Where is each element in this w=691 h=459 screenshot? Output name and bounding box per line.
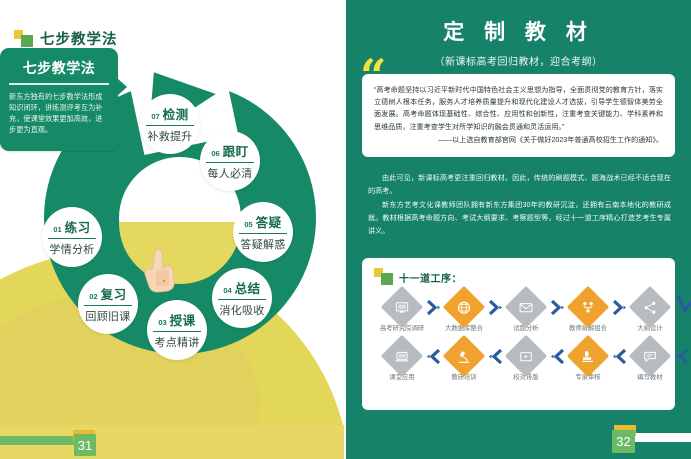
right-page: 定 制 教 材 （新课标高考回归教材，迎合考纲） “ “高考命题坚持以习近平新时… (346, 0, 691, 459)
chevron-right-icon (488, 292, 502, 315)
process-step-8[interactable]: 专家审核 (564, 341, 612, 382)
chevron-left-icon (674, 341, 688, 364)
laptop-icon (381, 335, 423, 377)
card-title: 七步教学法 (9, 58, 109, 78)
chevron-right-icon (426, 292, 440, 315)
two-squares-icon (14, 30, 34, 48)
step-02-number: 02 (89, 292, 97, 301)
card-description: 新东方独有的七步教学法形成知识闭环，讲练测评考互为补充，使课堂效果更加高效，进步… (9, 91, 109, 136)
share-nodes-icon (629, 286, 671, 328)
stamp-icon (567, 335, 609, 377)
process-card-header: 十一道工序： (374, 268, 667, 286)
step-06-number: 06 (211, 149, 219, 158)
two-squares-icon (374, 268, 394, 286)
step-06-sub: 每人必清 (207, 165, 252, 181)
play-box-icon (505, 335, 547, 377)
monitor-icon (381, 286, 423, 328)
chevron-right-icon (550, 292, 564, 315)
left-page-number-group: 31 (0, 430, 140, 452)
card-divider (9, 83, 109, 85)
microscope-icon (443, 335, 485, 377)
people-network-icon (567, 286, 609, 328)
step-node-02[interactable]: 02 复习 回顾旧课 (78, 274, 138, 334)
step-01-number: 01 (53, 225, 61, 234)
body-paragraph-1: 由此可见，新课标高考更注重回归教材。因此，传统的刷题模式、题海战术已经不适合现在… (368, 172, 671, 197)
step-06-keyword: 跟盯 (223, 141, 249, 160)
process-step-7[interactable]: 编写教材 (626, 341, 674, 382)
process-step-10[interactable]: 教研培训 (440, 341, 488, 382)
seven-step-summary-card: 七步教学法 新东方独有的七步教学法形成知识闭环，讲练测评考互为补充，使课堂效果更… (0, 48, 118, 151)
step-03-sub: 考点精讲 (154, 334, 199, 350)
speech-bubble-icon (629, 335, 671, 377)
chevron-left-icon (612, 341, 626, 364)
step-01-sub: 学情分析 (49, 241, 94, 257)
card-pointer-tail (117, 78, 127, 96)
chevron-left-icon (488, 341, 502, 364)
step-02-keyword: 复习 (101, 284, 127, 303)
left-page: 七步教学法 07 检测 补救提升 (0, 0, 346, 459)
body-paragraph-2: 新东方艺考文化课教师团队拥有新东方集团30年的教研沉淀，还拥有云南本地化的教研成… (368, 199, 671, 237)
step-node-07[interactable]: 07 检测 补救提升 (140, 94, 200, 154)
step-05-number: 05 (244, 220, 252, 229)
globe-icon (443, 286, 485, 328)
step-node-03[interactable]: 03 授课 考点精讲 (147, 300, 207, 360)
step-04-number: 04 (223, 286, 231, 295)
right-page-number-group: 32 (551, 425, 691, 449)
right-page-title: 定 制 教 材 (346, 16, 691, 46)
process-row-1: 高考研究院调研 大数据库整合 (374, 292, 667, 333)
step-03-number: 03 (158, 318, 166, 327)
process-row-2: 课堂应用 教研培训 校对排版 (374, 341, 667, 382)
process-step-6-label: 学科整合 (686, 374, 691, 382)
policy-quote-text: “高考命题坚持以习近平新时代中国特色社会主义思想为指导，全面贯彻党的教育方针，落… (374, 84, 663, 133)
turn-down-arrow-icon (674, 292, 691, 320)
step-01-keyword: 练习 (65, 217, 91, 236)
right-page-header: 定 制 教 材 （新课标高考回归教材，迎合考纲） (346, 16, 691, 68)
process-step-2[interactable]: 大数据库整合 (440, 292, 488, 333)
right-page-subtitle: （新课标高考回归教材，迎合考纲） (346, 53, 691, 68)
process-step-9[interactable]: 校对排版 (502, 341, 550, 382)
step-07-number: 07 (151, 112, 159, 121)
process-step-4[interactable]: 教师拆解组合 (564, 292, 612, 333)
left-page-title: 七步教学法 (40, 28, 118, 49)
step-node-04[interactable]: 04 总结 消化吸收 (212, 268, 272, 328)
step-07-sub: 补救提升 (147, 128, 192, 144)
chevron-left-icon (550, 341, 564, 364)
magazine-spread: 七步教学法 07 检测 补救提升 (0, 0, 691, 459)
step-07-keyword: 检测 (163, 104, 189, 123)
process-step-5[interactable]: 大纲设计 (626, 292, 674, 333)
eleven-process-card: 十一道工序： 高考研究院调研 大数据库整合 (362, 258, 675, 410)
step-node-05[interactable]: 05 答疑 答疑解惑 (233, 202, 293, 262)
process-step-11[interactable]: 课堂应用 (378, 341, 426, 382)
step-node-06[interactable]: 06 跟盯 每人必清 (200, 131, 260, 191)
step-03-keyword: 授课 (170, 310, 196, 329)
envelope-icon (505, 286, 547, 328)
step-04-sub: 消化吸收 (219, 302, 264, 318)
chevron-right-icon (612, 292, 626, 315)
left-page-header: 七步教学法 (14, 28, 118, 49)
process-card-title: 十一道工序： (399, 270, 462, 285)
pointing-hand-icon (142, 247, 176, 293)
policy-quote-source: ——以上选自教育部官网《关于做好2023年普通高校招生工作的通知》。 (374, 134, 663, 146)
right-page-body: 由此可见，新课标高考更注重回归教材。因此，传统的刷题模式、题海战术已经不适合现在… (368, 172, 671, 239)
right-page-number: 32 (612, 430, 635, 453)
step-04-keyword: 总结 (235, 278, 261, 297)
step-05-sub: 答疑解惑 (240, 236, 285, 252)
policy-quote-card: “高考命题坚持以习近平新时代中国特色社会主义思想为指导，全面贯彻党的教育方针，落… (362, 74, 675, 157)
chevron-left-icon (426, 341, 440, 364)
step-02-sub: 回顾旧课 (85, 308, 130, 324)
left-page-number: 31 (74, 434, 96, 456)
process-step-1[interactable]: 高考研究院调研 (378, 292, 426, 333)
process-step-3[interactable]: 试题分析 (502, 292, 550, 333)
step-05-keyword: 答疑 (256, 212, 282, 231)
step-node-01[interactable]: 01 练习 学情分析 (42, 207, 102, 267)
